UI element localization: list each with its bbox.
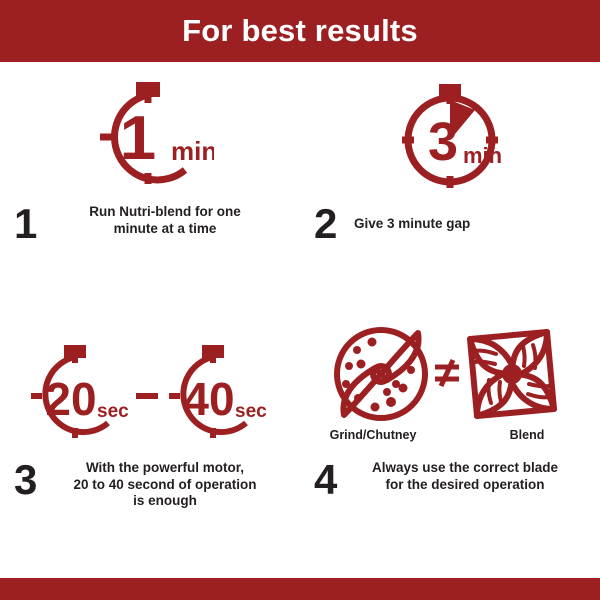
step-3-line-1: With the powerful motor,	[46, 460, 284, 477]
step-1-artwork: 1 min!	[0, 62, 300, 212]
step-2-number-slot: 2	[300, 204, 346, 244]
blend-blade-icon	[470, 332, 554, 416]
step-1-line-1: Run Nutri-blend for one	[46, 204, 284, 221]
step-number: 1	[14, 200, 37, 247]
timer-3-value: 3	[428, 112, 458, 172]
timer-20-unit: sec	[97, 401, 129, 422]
not-equal-icon	[435, 360, 459, 386]
step-2-artwork: 3 min	[300, 62, 600, 212]
step-3-line-2: 20 to 40 second of operation	[46, 477, 284, 494]
step-number: 2	[314, 200, 337, 247]
page-title: For best results	[182, 13, 418, 49]
step-4-artwork	[300, 320, 600, 432]
blade-label-row: Grind/Chutney Blend	[300, 428, 600, 442]
step-4-line-1: Always use the correct blade	[346, 460, 584, 477]
grind-chutney-label: Grind/Chutney	[300, 428, 452, 442]
step-3-artwork: 20 sec 40 sec	[0, 320, 300, 470]
step-3-number-slot: 3	[0, 460, 46, 500]
timer-40-value: 40	[183, 373, 234, 425]
step-3-caption: 3 With the powerful motor, 20 to 40 seco…	[0, 460, 300, 510]
timer-1-unit: min!	[171, 136, 214, 166]
timer-40-unit: sec	[235, 401, 267, 422]
step-3-line-3: is enough	[46, 493, 284, 510]
timer-3-min-icon: 3 min	[391, 78, 509, 196]
step-1-text: Run Nutri-blend for one minute at a time	[46, 204, 300, 237]
range-separator	[136, 393, 158, 399]
timer-1-min-icon: 1 min!	[86, 76, 214, 198]
timer-range-icon: 20 sec 40 sec	[14, 341, 286, 449]
step-1-line-2: minute at a time	[46, 221, 284, 238]
timer-20-value: 20	[45, 373, 96, 425]
step-number: 4	[314, 456, 337, 503]
step-4-caption: 4 Always use the correct blade for the d…	[300, 460, 600, 500]
step-2-text: Give 3 minute gap	[346, 204, 600, 233]
footer-bar	[0, 578, 600, 600]
step-1-number-slot: 1	[0, 204, 46, 244]
step-card-3: 20 sec 40 sec	[0, 320, 300, 578]
step-2-line-1: Give 3 minute gap	[354, 216, 584, 233]
step-card-4: Grind/Chutney Blend 4 Always use the cor…	[300, 320, 600, 578]
timer-1-value: 1	[120, 103, 157, 173]
step-2-caption: 2 Give 3 minute gap	[300, 204, 600, 244]
step-4-line-2: for the desired operation	[346, 477, 584, 494]
steps-grid: 1 min! 1 Run Nutri-blend for one minute …	[0, 62, 600, 578]
blades-comparison-icon	[325, 322, 575, 430]
step-3-text: With the powerful motor, 20 to 40 second…	[46, 460, 300, 510]
step-card-1: 1 min! 1 Run Nutri-blend for one minute …	[0, 62, 300, 320]
timer-3-unit: min	[463, 143, 502, 168]
step-card-2: 3 min 2 Give 3 minute gap	[300, 62, 600, 320]
blend-label: Blend	[452, 428, 600, 442]
step-4-number-slot: 4	[300, 460, 346, 500]
step-4-text: Always use the correct blade for the des…	[346, 460, 600, 493]
grind-chutney-blade-icon	[337, 330, 425, 418]
step-1-caption: 1 Run Nutri-blend for one minute at a ti…	[0, 204, 300, 244]
header-banner: For best results	[0, 0, 600, 62]
step-number: 3	[14, 456, 37, 503]
